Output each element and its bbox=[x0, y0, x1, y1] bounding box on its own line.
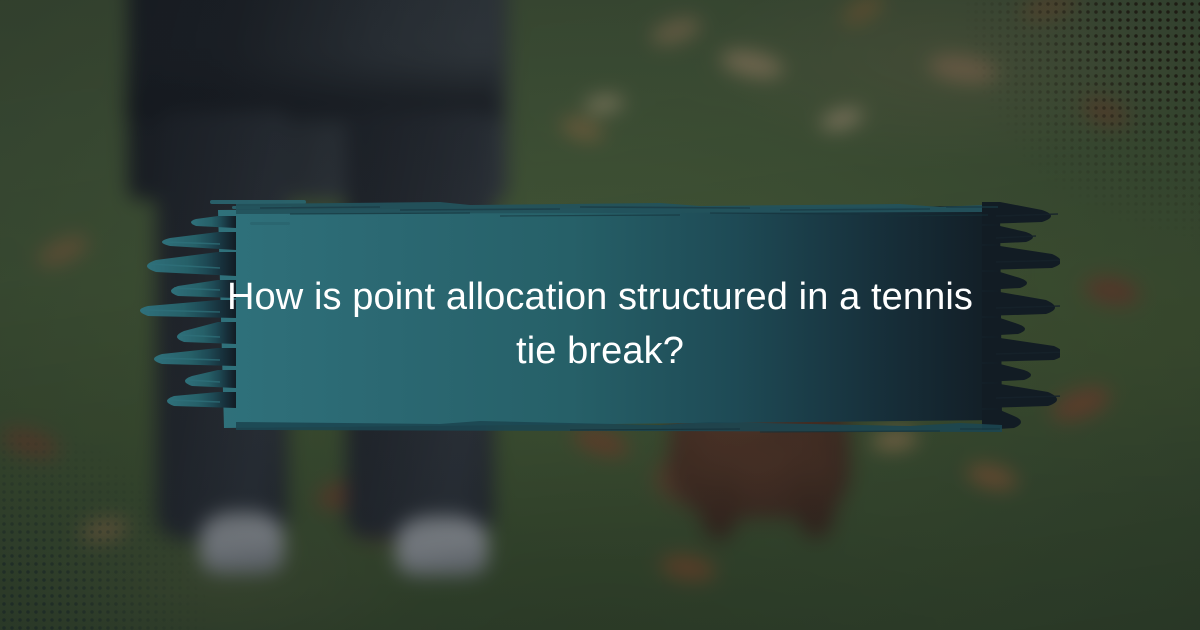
question-card-canvas: How is point allocation structured in a … bbox=[0, 0, 1200, 630]
page-title: How is point allocation structured in a … bbox=[200, 270, 1000, 378]
